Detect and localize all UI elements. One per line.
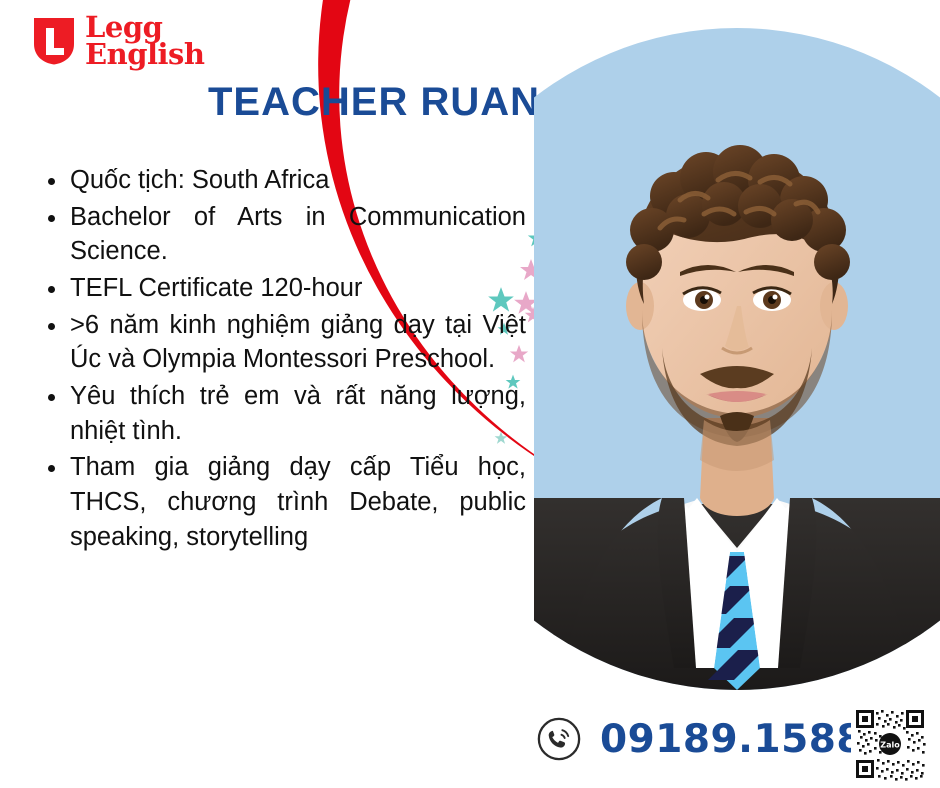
brand-logo[interactable]: Legg English — [32, 14, 204, 69]
brand-logo-text: Legg English — [85, 14, 204, 69]
contact-row[interactable]: 09189.15889 — [536, 716, 892, 762]
star-icon — [527, 228, 547, 248]
list-item: Yêu thích trẻ em và rất năng lượng, nhiệ… — [38, 379, 526, 448]
teacher-profile-poster: Legg English TEACHER RUAN Quốc tịch: Sou… — [0, 0, 940, 788]
star-icon — [547, 178, 559, 190]
list-item: Bachelor of Arts in Communication Scienc… — [38, 200, 526, 269]
list-item: >6 năm kinh nghiệm giảng dạy tại Việt Úc… — [38, 308, 526, 377]
profile-bullet-list: Quốc tịch: South Africa Bachelor of Arts… — [38, 163, 526, 556]
star-icon — [585, 110, 611, 136]
phone-number[interactable]: 09189.15889 — [600, 717, 892, 762]
zalo-qr-label: Zalo — [880, 741, 900, 750]
list-item: Quốc tịch: South Africa — [38, 163, 526, 198]
star-icon — [626, 68, 648, 90]
star-icon — [539, 150, 555, 166]
zalo-qr-code[interactable]: Zalo — [851, 705, 929, 783]
brand-logo-line2: English — [85, 41, 204, 68]
list-item: Tham gia giảng dạy cấp Tiểu học, THCS, c… — [38, 450, 526, 554]
page-title: TEACHER RUAN — [208, 80, 540, 125]
star-icon — [552, 196, 570, 214]
phone-circle-icon — [536, 716, 582, 762]
shield-logo-icon — [32, 16, 76, 66]
list-item: TEFL Certificate 120-hour — [38, 271, 526, 306]
star-icon — [566, 262, 579, 275]
